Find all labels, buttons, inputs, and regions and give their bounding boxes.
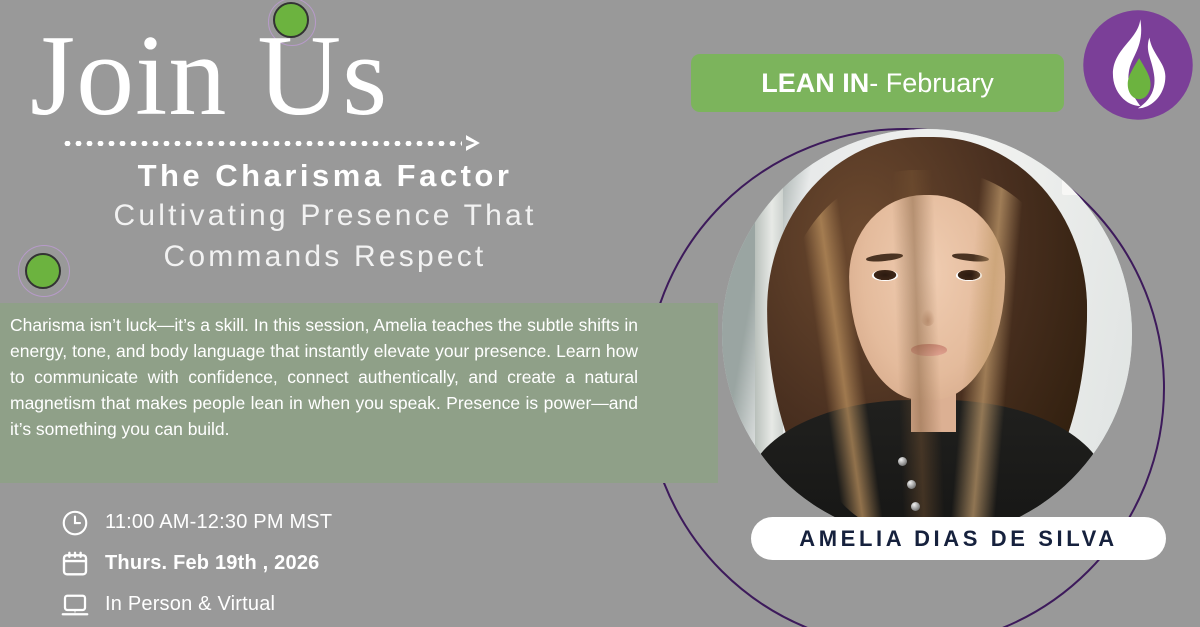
detail-label-location: In Person & Virtual [105, 593, 275, 616]
tagline-line-2: Commands Respect [0, 237, 650, 278]
event-details: 11:00 AM-12:30 PM MST Thurs. Feb 19th , … [58, 502, 332, 625]
tagline-line-1: Cultivating Presence That [0, 196, 650, 237]
photo-stud-2 [907, 480, 916, 489]
detail-label-date: Thurs. Feb 19th , 2026 [105, 552, 319, 575]
status-badge: LEAN IN - February [691, 54, 1064, 112]
detail-label-time: 11:00 AM-12:30 PM MST [105, 511, 332, 534]
dotted-arrow-icon [62, 138, 480, 148]
detail-row-location: In Person & Virtual [58, 584, 332, 625]
description-text: Charisma isn’t luck—it’s a skill. In thi… [10, 312, 638, 442]
page-title: Join Us [30, 18, 388, 134]
dotted-line [62, 141, 462, 146]
clock-icon [58, 506, 92, 540]
photo-wall-note [1062, 158, 1099, 195]
calendar-icon [58, 547, 92, 581]
laptop-icon [58, 588, 92, 622]
photo-hair-highlights [784, 170, 1071, 531]
speaker-name-plate: AMELIA DIAS DE SILVA [751, 517, 1166, 560]
arrow-head-icon [466, 135, 480, 151]
event-tagline: Cultivating Presence That Commands Respe… [0, 196, 650, 277]
avatar [722, 129, 1132, 539]
event-subtitle: The Charisma Factor [0, 158, 650, 194]
detail-row-time: 11:00 AM-12:30 PM MST [58, 502, 332, 543]
badge-rest-text: - February [869, 68, 994, 99]
photo-stud-3 [911, 502, 920, 511]
detail-row-date: Thurs. Feb 19th , 2026 [58, 543, 332, 584]
flame-droplet-logo [1081, 8, 1195, 122]
badge-strong-text: LEAN IN [761, 68, 869, 99]
event-flyer: Join Us The Charisma Factor Cultivating … [0, 0, 1200, 627]
